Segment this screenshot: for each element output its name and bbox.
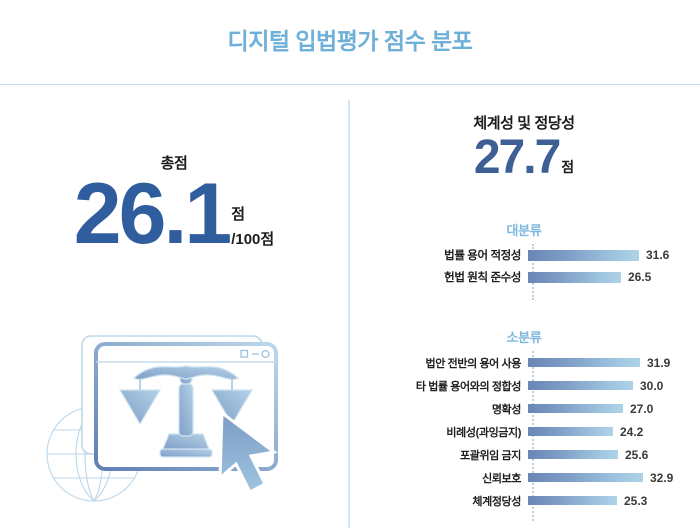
bar-label: 신뢰보호 bbox=[348, 470, 528, 486]
bar-chart-row: 명확성27.0 bbox=[348, 397, 700, 420]
bar-area: 31.6 bbox=[528, 244, 700, 266]
bar-chart-row: 타 법률 용어와의 정합성30.0 bbox=[348, 374, 700, 397]
section-score-unit: 점 bbox=[561, 157, 574, 179]
bar-chart-row: 포괄위임 금지25.6 bbox=[348, 443, 700, 466]
bar bbox=[528, 450, 618, 459]
bar-value-label: 31.9 bbox=[647, 356, 670, 370]
bar bbox=[528, 427, 613, 436]
digital-law-scale-illustration bbox=[36, 322, 322, 514]
bar-area: 32.9 bbox=[528, 466, 700, 489]
bar-value-label: 25.6 bbox=[625, 448, 648, 462]
bar-chart-row: 법률 용어 적정성31.6 bbox=[348, 244, 700, 266]
bar-chart-row: 체계정당성25.3 bbox=[348, 489, 700, 512]
bar bbox=[528, 358, 640, 367]
major-category-bar-chart: 법률 용어 적정성31.6헌법 원칙 준수성26.5 bbox=[348, 244, 700, 300]
bar-label: 타 법률 용어와의 정합성 bbox=[348, 378, 528, 394]
bar-label: 체계정당성 bbox=[348, 493, 528, 509]
bar bbox=[528, 250, 639, 261]
bar-value-label: 25.3 bbox=[624, 494, 647, 508]
bar-value-label: 31.6 bbox=[646, 248, 669, 262]
bar bbox=[528, 473, 643, 482]
bar-chart-row: 법안 전반의 용어 사용31.9 bbox=[348, 351, 700, 374]
category-score-panel: 체계성 및 정당성 27.7 점 대분류 법률 용어 적정성31.6헌법 원칙 … bbox=[348, 100, 700, 528]
bar-value-label: 26.5 bbox=[628, 270, 651, 284]
total-score-panel: 총점 26.1 점 /100점 bbox=[0, 100, 348, 528]
bar-value-label: 24.2 bbox=[620, 425, 643, 439]
major-category-heading: 대분류 bbox=[348, 220, 700, 239]
minor-category-bar-chart: 법안 전반의 용어 사용31.9타 법률 용어와의 정합성30.0명확성27.0… bbox=[348, 351, 700, 521]
bar-label: 법안 전반의 용어 사용 bbox=[348, 355, 528, 371]
bar-label: 비례성(과잉금지) bbox=[348, 424, 528, 440]
minor-category-heading: 소분류 bbox=[348, 327, 700, 346]
header-divider bbox=[0, 84, 700, 85]
total-score-value: 26.1 bbox=[74, 178, 229, 252]
bar-area: 25.3 bbox=[528, 489, 700, 512]
bar bbox=[528, 404, 623, 413]
section-score-row: 27.7 점 bbox=[348, 136, 700, 179]
bar-label: 명확성 bbox=[348, 401, 528, 417]
bar-chart-row: 비례성(과잉금지)24.2 bbox=[348, 420, 700, 443]
bar-area: 31.9 bbox=[528, 351, 700, 374]
total-score-unit: 점 bbox=[231, 207, 245, 224]
bar-area: 25.6 bbox=[528, 443, 700, 466]
bar-label: 헌법 원칙 준수성 bbox=[348, 269, 528, 285]
bar bbox=[528, 381, 633, 390]
section-title: 체계성 및 정당성 bbox=[348, 112, 700, 133]
bar-area: 24.2 bbox=[528, 420, 700, 443]
bar-value-label: 32.9 bbox=[650, 471, 673, 485]
page-title: 디지털 입법평가 점수 분포 bbox=[0, 22, 700, 56]
bar-chart-row: 헌법 원칙 준수성26.5 bbox=[348, 266, 700, 288]
total-score-row: 26.1 점 /100점 bbox=[0, 178, 348, 252]
bar-area: 26.5 bbox=[528, 266, 700, 288]
bar-chart-row: 신뢰보호32.9 bbox=[348, 466, 700, 489]
bar-value-label: 30.0 bbox=[640, 379, 663, 393]
bar-area: 30.0 bbox=[528, 374, 700, 397]
bar-value-label: 27.0 bbox=[630, 402, 653, 416]
section-score-value: 27.7 bbox=[474, 136, 559, 179]
total-score-denominator: /100점 bbox=[231, 228, 274, 249]
total-score-unit-group: 점 /100점 bbox=[231, 207, 274, 252]
bar bbox=[528, 496, 617, 505]
bar-label: 포괄위임 금지 bbox=[348, 447, 528, 463]
bar-area: 27.0 bbox=[528, 397, 700, 420]
bar-label: 법률 용어 적정성 bbox=[348, 247, 528, 263]
bar bbox=[528, 272, 621, 283]
